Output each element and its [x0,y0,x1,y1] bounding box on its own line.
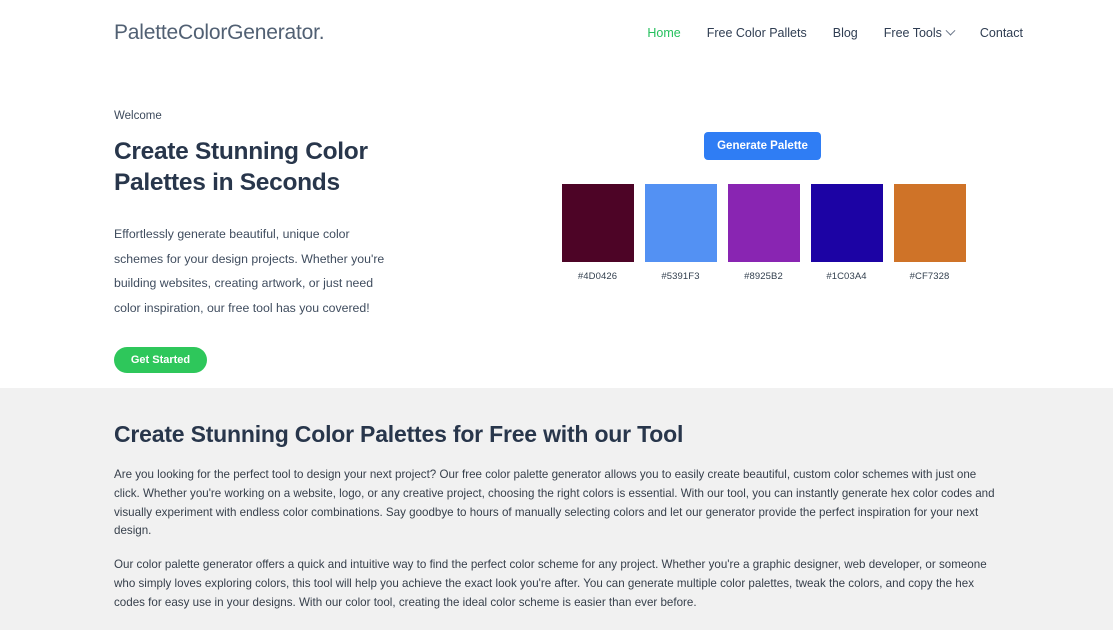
hero-section: Welcome Create Stunning Color Palettes i… [0,66,1113,388]
site-header: PaletteColorGenerator. HomeFree Color Pa… [0,0,1113,66]
get-started-button[interactable]: Get Started [114,347,207,373]
color-swatch-row: #4D0426#5391F3#8925B2#1C03A4#CF7328 [562,184,966,282]
nav-link-contact[interactable]: Contact [980,26,1023,40]
color-swatch[interactable]: #4D0426 [562,184,634,282]
nav-link-home[interactable]: Home [647,26,680,40]
nav-link-free-tools[interactable]: Free Tools [884,26,954,40]
nav-link-label: Blog [833,26,858,40]
color-swatch-chip[interactable] [562,184,634,262]
color-swatch-hex-label: #CF7328 [910,271,950,282]
color-swatch[interactable]: #1C03A4 [811,184,883,282]
info-section: Create Stunning Color Palettes for Free … [0,388,1113,630]
color-swatch[interactable]: #8925B2 [728,184,800,282]
nav-link-blog[interactable]: Blog [833,26,858,40]
hero-title: Create Stunning Color Palettes in Second… [114,136,414,198]
generate-palette-button[interactable]: Generate Palette [704,132,821,160]
nav-link-label: Free Color Pallets [707,26,807,40]
hero-text-column: Welcome Create Stunning Color Palettes i… [114,102,414,388]
info-paragraph-list: Are you looking for the perfect tool to … [114,466,999,630]
color-swatch-chip[interactable] [645,184,717,262]
chevron-down-icon [945,25,955,35]
nav-link-label: Home [647,26,680,40]
palette-generator-panel: Generate Palette #4D0426#5391F3#8925B2#1… [414,102,1113,388]
color-swatch-hex-label: #8925B2 [744,271,783,282]
color-swatch-chip[interactable] [811,184,883,262]
color-swatch[interactable]: #CF7328 [894,184,966,282]
info-section-title: Create Stunning Color Palettes for Free … [114,421,999,448]
nav-link-label: Free Tools [884,26,942,40]
color-swatch[interactable]: #5391F3 [645,184,717,282]
color-swatch-hex-label: #5391F3 [661,271,699,282]
color-swatch-chip[interactable] [894,184,966,262]
hero-description: Effortlessly generate beautiful, unique … [114,222,396,320]
color-swatch-chip[interactable] [728,184,800,262]
info-paragraph: Our color palette generator offers a qui… [114,556,999,612]
hero-eyebrow: Welcome [114,110,414,122]
info-paragraph: Are you looking for the perfect tool to … [114,466,999,541]
nav-link-free-color-pallets[interactable]: Free Color Pallets [707,26,807,40]
color-swatch-hex-label: #1C03A4 [826,271,866,282]
color-swatch-hex-label: #4D0426 [578,271,617,282]
brand-logo[interactable]: PaletteColorGenerator. [114,21,324,45]
main-navigation: HomeFree Color PalletsBlogFree ToolsCont… [647,26,1023,40]
nav-link-label: Contact [980,26,1023,40]
